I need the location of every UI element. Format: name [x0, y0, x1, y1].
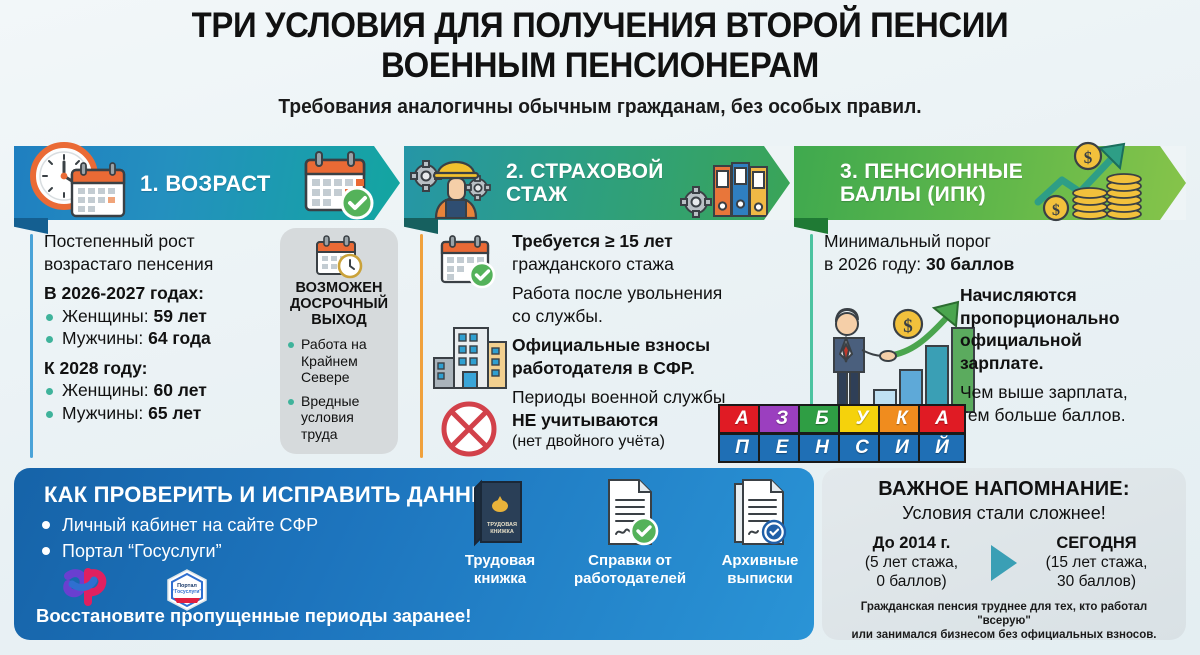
ribbon-title-line2: СТАЖ [506, 183, 664, 206]
certificate-icon [599, 476, 661, 548]
work-line2: со службы. [512, 305, 787, 328]
early-exit-box: ВОЗМОЖЕН ДОСРОЧНЫЙ ВЫХОД Работа на Крайн… [280, 228, 398, 454]
age-period-2: К 2028 году: [44, 357, 282, 380]
list-item: Мужчины: 65 лет [44, 402, 282, 425]
sfr-logo [58, 564, 116, 610]
page-subtitle: Требования аналогичны обычным гражданам,… [24, 96, 1176, 119]
gear-icon [681, 187, 711, 217]
page-title-line2: ВОЕННЫМ ПЕНСИОНЕРАМ [36, 46, 1164, 86]
document-archive: Архивные выписки [704, 476, 816, 588]
svg-text:"Госуслуги": "Госуслуги" [172, 589, 202, 595]
svg-text:$: $ [903, 316, 913, 337]
age-period-2-list: Женщины: 60 лет Мужчины: 65 лет [44, 379, 282, 424]
age-period-1: В 2026-2027 годах: [44, 282, 282, 305]
calendar-check-icon [300, 150, 376, 222]
caption-line1: Трудовая [444, 552, 556, 570]
age-intro-2: возрастаго пенсения [44, 253, 282, 276]
req-value: ≥ 15 лет [605, 231, 673, 251]
label: Мужчины: [62, 403, 148, 423]
after-line1: (15 лет стажа, [1029, 553, 1164, 572]
conditions-columns: 1. ВОЗРАСТ [0, 146, 1200, 466]
more-line1: Чем выше зарплата, [960, 381, 1180, 404]
before-head: До 2014 г. [844, 534, 979, 553]
value: 59 лет [153, 306, 206, 326]
min-line1: Минимальный порог [824, 230, 1174, 253]
value: 65 лет [148, 403, 201, 423]
accent-bar-age [30, 234, 33, 458]
contrib-line1: Официальные взносы [512, 334, 787, 357]
ribbon-title-points: 3. ПЕНСИОННЫЕ БАЛЛЫ (ИПК) [840, 160, 1023, 206]
comparison-after: СЕГОДНЯ (15 лет стажа, 30 баллов) [1029, 534, 1164, 591]
list-item: Женщины: 60 лет [44, 379, 282, 402]
after-line2: 30 баллов) [1029, 572, 1164, 591]
req-label: Требуется [512, 231, 605, 251]
important-reminder-panel: ВАЖНОЕ НАПОМНАНИЕ: Условия стали сложнее… [822, 468, 1186, 640]
cube-letter: А [918, 404, 966, 434]
prop-line4: зарплате. [960, 352, 1180, 375]
ribbon-header-age: 1. ВОЗРАСТ [14, 146, 400, 220]
ribbon-title-line1: 2. СТРАХОВОЙ [506, 160, 664, 183]
list-item: Вредные условия труда [288, 393, 390, 443]
calendar-clock-icon [313, 234, 365, 280]
svg-text:КНИЖКА: КНИЖКА [490, 529, 514, 535]
ribbon-title-insurance: 2. СТРАХОВОЙ СТАЖ [506, 160, 664, 206]
svg-text:ТРУДОВАЯ: ТРУДОВАЯ [487, 522, 517, 528]
folders-icon [680, 158, 772, 220]
worker-helmet-icon [408, 148, 504, 220]
early-exit-list: Работа на Крайнем Севере Вредные условия… [288, 336, 390, 442]
reminder-title: ВАЖНОЕ НАПОМНАНИЕ: [834, 478, 1174, 501]
clock-icon [20, 140, 136, 222]
arrow-right-icon [991, 545, 1017, 581]
prop-line2: пропорционально [960, 307, 1180, 330]
ribbon-header-insurance: 2. СТРАХОВОЙ СТАЖ [404, 146, 790, 220]
archive-document-icon [729, 476, 791, 548]
reminder-note-line1: Гражданская пенсия труднее для тех, кто … [834, 600, 1174, 628]
list-item: Работа на Крайнем Севере [288, 336, 390, 386]
infographic-page: ТРИ УСЛОВИЯ ДЛЯ ПОЛУЧЕНИЯ ВТОРОЙ ПЕНСИИ … [0, 0, 1200, 655]
reminder-subtitle: Условия стали сложнее! [834, 503, 1174, 524]
value: 64 года [148, 328, 211, 348]
caption-line1: Архивные [704, 552, 816, 570]
coins-stack-icon: $ $ [1032, 138, 1150, 224]
ribbon-header-points: 3. ПЕНСИОННЫЕ БАЛЛЫ (ИПК) $ $ [794, 146, 1186, 220]
age-text-block: Постепенный рост возрастаго пенсения В 2… [44, 230, 282, 424]
ribbon-title-line1: 3. ПЕНСИОННЫЕ [840, 160, 1023, 183]
how-to-check-list: Личный кабинет на сайте СФР Портал “Госу… [40, 512, 318, 564]
list-item[interactable]: Портал “Госуслуги” [40, 538, 318, 564]
caption-line2: книжка [444, 570, 556, 588]
caption-line1: Справки от [574, 552, 686, 570]
early-exit-title-3: ВЫХОД [288, 312, 390, 328]
points-proportional-block: Начисляются пропорционально официальной … [960, 284, 1180, 426]
min-line2-label: в 2026 году: [824, 254, 926, 274]
reminder-note-line2: или занимался бизнесом без официальных в… [834, 628, 1174, 640]
dollar-coin-icon: $ [1044, 196, 1068, 220]
accent-bar-insurance [420, 234, 423, 458]
page-header: ТРИ УСЛОВИЯ ДЛЯ ПОЛУЧЕНИЯ ВТОРОЙ ПЕНСИИ … [0, 6, 1200, 119]
svg-text:$: $ [1052, 202, 1060, 219]
document-certificates: Справки от работодателей [574, 476, 686, 588]
comparison-before: До 2014 г. (5 лет стажа, 0 баллов) [844, 534, 979, 591]
cube-letter: Й [918, 433, 966, 463]
contrib-line2: работодателя в СФР. [512, 357, 787, 380]
documents-row: ТРУДОВАЯ КНИЖКА Трудовая книжка [444, 476, 816, 588]
age-period-1-list: Женщины: 59 лет Мужчины: 64 года [44, 305, 282, 350]
restore-periods-text: Восстановите пропущенные периоды заранее… [36, 605, 471, 627]
prohibited-icon [438, 398, 500, 460]
label: Мужчины: [62, 328, 148, 348]
azbuka-pensiy-logo: А З Б У К А П Е Н С И Й [718, 404, 963, 466]
early-exit-title-2: ДОСРОЧНЫЙ [288, 296, 390, 312]
document-work-book: ТРУДОВАЯ КНИЖКА Трудовая книжка [444, 476, 556, 588]
caption-line2: выписки [704, 570, 816, 588]
calendar-icon [72, 163, 124, 216]
gear-icon [466, 176, 490, 200]
ribbon-title-line2: БАЛЛЫ (ИПК) [840, 183, 1023, 206]
points-text-block: Минимальный порог в 2026 году: 30 баллов [824, 230, 1174, 275]
calendar-check-icon [438, 234, 504, 290]
list-item: Мужчины: 64 года [44, 327, 282, 350]
dollar-coin-icon: $ [1075, 143, 1101, 169]
page-title-line1: ТРИ УСЛОВИЯ ДЛЯ ПОЛУЧЕНИЯ ВТОРОЙ ПЕНСИИ [36, 6, 1164, 46]
value: 60 лет [153, 380, 206, 400]
caption-line2: работодателей [574, 570, 686, 588]
ribbon-title-age: 1. ВОЗРАСТ [140, 172, 271, 195]
how-to-check-panel: КАК ПРОВЕРИТЬ И ИСПРАВИТЬ ДАННЫЕ? Личный… [14, 468, 814, 640]
list-item[interactable]: Личный кабинет на сайте СФР [40, 512, 318, 538]
min-line2-value: 30 баллов [926, 254, 1014, 274]
prop-line3: официальной [960, 329, 1180, 352]
label: Женщины: [62, 306, 153, 326]
comparison-row: До 2014 г. (5 лет стажа, 0 баллов) СЕГОД… [834, 534, 1174, 591]
work-book-icon: ТРУДОВАЯ КНИЖКА [469, 476, 531, 548]
card-age: Постепенный рост возрастаго пенсения В 2… [14, 232, 400, 460]
work-line1: Работа после увольнения [512, 282, 787, 305]
after-head: СЕГОДНЯ [1029, 534, 1164, 553]
condition-column-age: 1. ВОЗРАСТ [14, 146, 400, 464]
dollar-coin-icon: $ [894, 310, 922, 338]
prop-line1: Начисляются [960, 284, 1180, 307]
before-line1: (5 лет стажа, [844, 553, 979, 572]
more-line2: тем больше баллов. [960, 404, 1180, 427]
label: Женщины: [62, 380, 153, 400]
req-line2: гражданского стажа [512, 253, 787, 276]
before-line2: 0 баллов) [844, 572, 979, 591]
early-exit-title-1: ВОЗМОЖЕН [288, 280, 390, 296]
list-item: Женщины: 59 лет [44, 305, 282, 328]
office-building-icon [432, 320, 510, 392]
svg-text:$: $ [1084, 148, 1093, 167]
age-intro-1: Постепенный рост [44, 230, 282, 253]
